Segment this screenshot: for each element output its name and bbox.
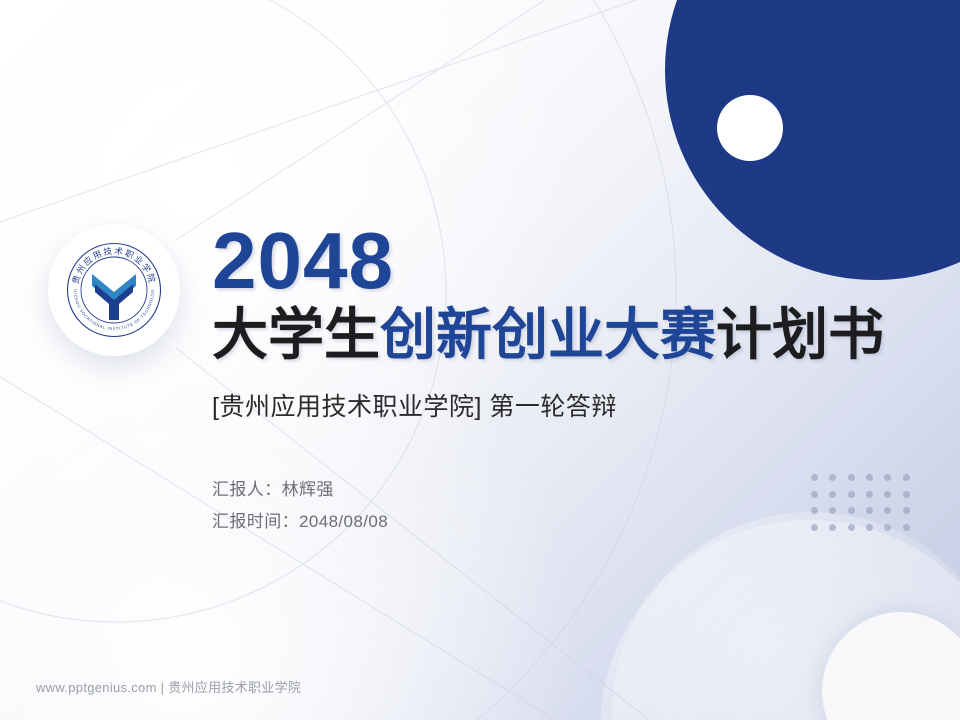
headline-segment-dark-1: 大学生 [212, 303, 380, 366]
presentation-cover-slide: 贵州应用技术职业学院 GUIZHOU VOCATIONAL INSTITUTE … [0, 0, 960, 720]
presentation-meta: 汇报人：林辉强 汇报时间：2048/08/08 [212, 475, 932, 532]
headline-segment-dark-2: 计划书 [716, 303, 884, 366]
school-seal-icon: 贵州应用技术职业学院 GUIZHOU VOCATIONAL INSTITUTE … [64, 240, 164, 340]
year-heading: 2048 [212, 222, 932, 300]
date-line: 汇报时间：2048/08/08 [212, 507, 932, 532]
school-logo: 贵州应用技术职业学院 GUIZHOU VOCATIONAL INSTITUTE … [48, 224, 180, 356]
headline-segment-blue: 创新创业大赛 [380, 303, 716, 366]
main-headline: 大学生创新创业大赛计划书 [212, 306, 932, 365]
title-text-block: 2048 大学生创新创业大赛计划书 [贵州应用技术职业学院] 第一轮答辩 汇报人… [212, 222, 932, 539]
decorative-white-circle-top [717, 95, 783, 161]
footer-credit: www.pptgenius.com | 贵州应用技术职业学院 [36, 677, 301, 696]
presenter-line: 汇报人：林辉强 [212, 475, 932, 500]
subtitle: [贵州应用技术职业学院] 第一轮答辩 [212, 387, 932, 423]
